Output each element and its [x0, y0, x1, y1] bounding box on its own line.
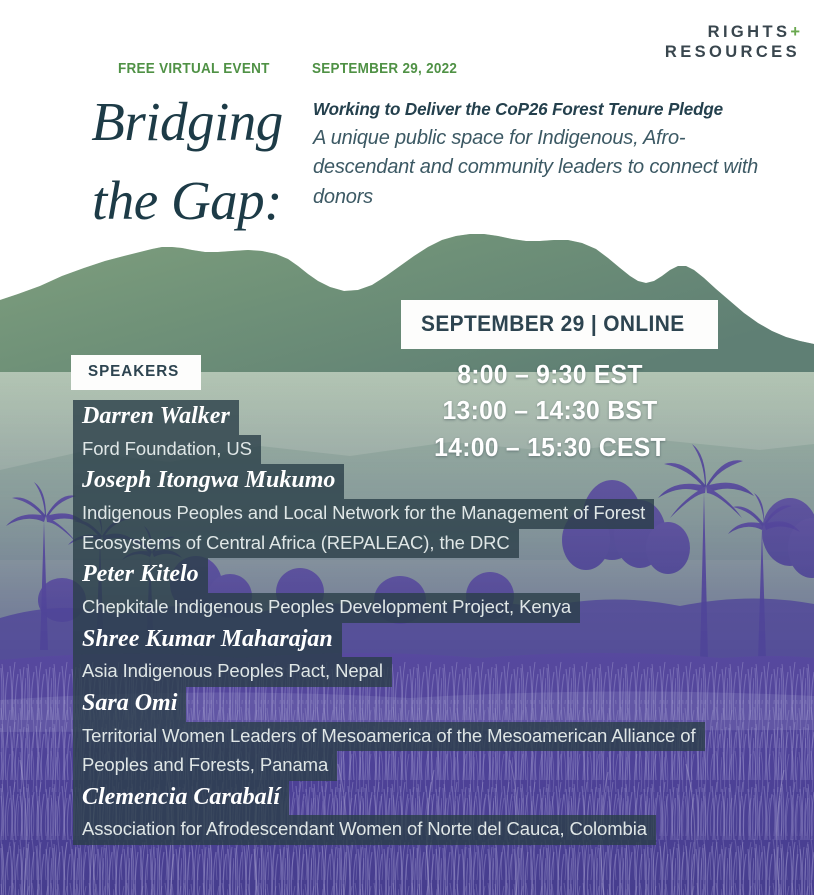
- subtitle-headline: Working to Deliver the CoP26 Forest Tenu…: [313, 97, 771, 122]
- list-item: Clemencia Carabalí Association for Afrod…: [73, 781, 773, 845]
- speaker-name: Clemencia Carabalí: [73, 781, 289, 816]
- date-online-badge: SEPTEMBER 29 | ONLINE: [401, 300, 718, 349]
- kicker-event-date: SEPTEMBER 29, 2022: [312, 61, 457, 77]
- logo-text-rights: RIGHTS: [708, 23, 791, 41]
- speaker-affiliation: Association for Afrodescendant Women of …: [73, 815, 656, 845]
- speaker-affiliation: Ecosystems of Central Africa (REPALEAC),…: [73, 529, 519, 559]
- poster-header: RIGHTS+ RESOURCES FREE VIRTUAL EVENT SEP…: [0, 0, 814, 232]
- speakers-badge: SPEAKERS: [71, 355, 201, 390]
- speaker-affiliation: Indigenous Peoples and Local Network for…: [73, 499, 654, 529]
- speakers-badge-label: SPEAKERS: [88, 363, 179, 381]
- date-online-badge-label: SEPTEMBER 29 | ONLINE: [421, 311, 685, 337]
- subtitle-description: A unique public space for Indigenous, Af…: [313, 124, 783, 213]
- list-item: Joseph Itongwa Mukumo Indigenous Peoples…: [73, 464, 773, 558]
- logo-line-resources: RESOURCES: [665, 42, 800, 62]
- speaker-affiliation: Territorial Women Leaders of Mesoamerica…: [73, 722, 705, 752]
- page-title-line-2: the Gap:: [62, 161, 312, 240]
- speaker-name: Shree Kumar Maharajan: [73, 623, 342, 658]
- speaker-name: Sara Omi: [73, 687, 186, 722]
- list-item: Peter Kitelo Chepkitale Indigenous Peopl…: [73, 558, 773, 622]
- list-item: Sara Omi Territorial Women Leaders of Me…: [73, 687, 773, 781]
- speaker-affiliation: Chepkitale Indigenous Peoples Developmen…: [73, 593, 580, 623]
- list-item: Darren Walker Ford Foundation, US: [73, 400, 773, 464]
- speaker-name: Joseph Itongwa Mukumo: [73, 464, 344, 499]
- logo-plus-icon: +: [790, 23, 800, 41]
- speaker-name: Peter Kitelo: [73, 558, 208, 593]
- page-title-line-1: Bridging: [62, 82, 312, 161]
- kicker-row: FREE VIRTUAL EVENT SEPTEMBER 29, 2022: [118, 61, 468, 77]
- page-title: Bridging the Gap:: [62, 82, 312, 240]
- speaker-name: Darren Walker: [73, 400, 239, 435]
- list-item: Shree Kumar Maharajan Asia Indigenous Pe…: [73, 623, 773, 687]
- time-line: 8:00 – 9:30 EST: [403, 356, 698, 392]
- speaker-affiliation: Asia Indigenous Peoples Pact, Nepal: [73, 657, 392, 687]
- speaker-affiliation: Ford Foundation, US: [73, 435, 261, 465]
- rights-and-resources-logo: RIGHTS+ RESOURCES: [665, 22, 800, 62]
- kicker-free-virtual-event: FREE VIRTUAL EVENT: [118, 61, 270, 77]
- logo-line-rights: RIGHTS+: [665, 22, 800, 42]
- speaker-affiliation: Peoples and Forests, Panama: [73, 751, 337, 781]
- event-poster: RIGHTS+ RESOURCES FREE VIRTUAL EVENT SEP…: [0, 0, 814, 895]
- subtitle-block: Working to Deliver the CoP26 Forest Tenu…: [313, 97, 783, 213]
- speakers-list: Darren Walker Ford Foundation, US Joseph…: [73, 400, 773, 845]
